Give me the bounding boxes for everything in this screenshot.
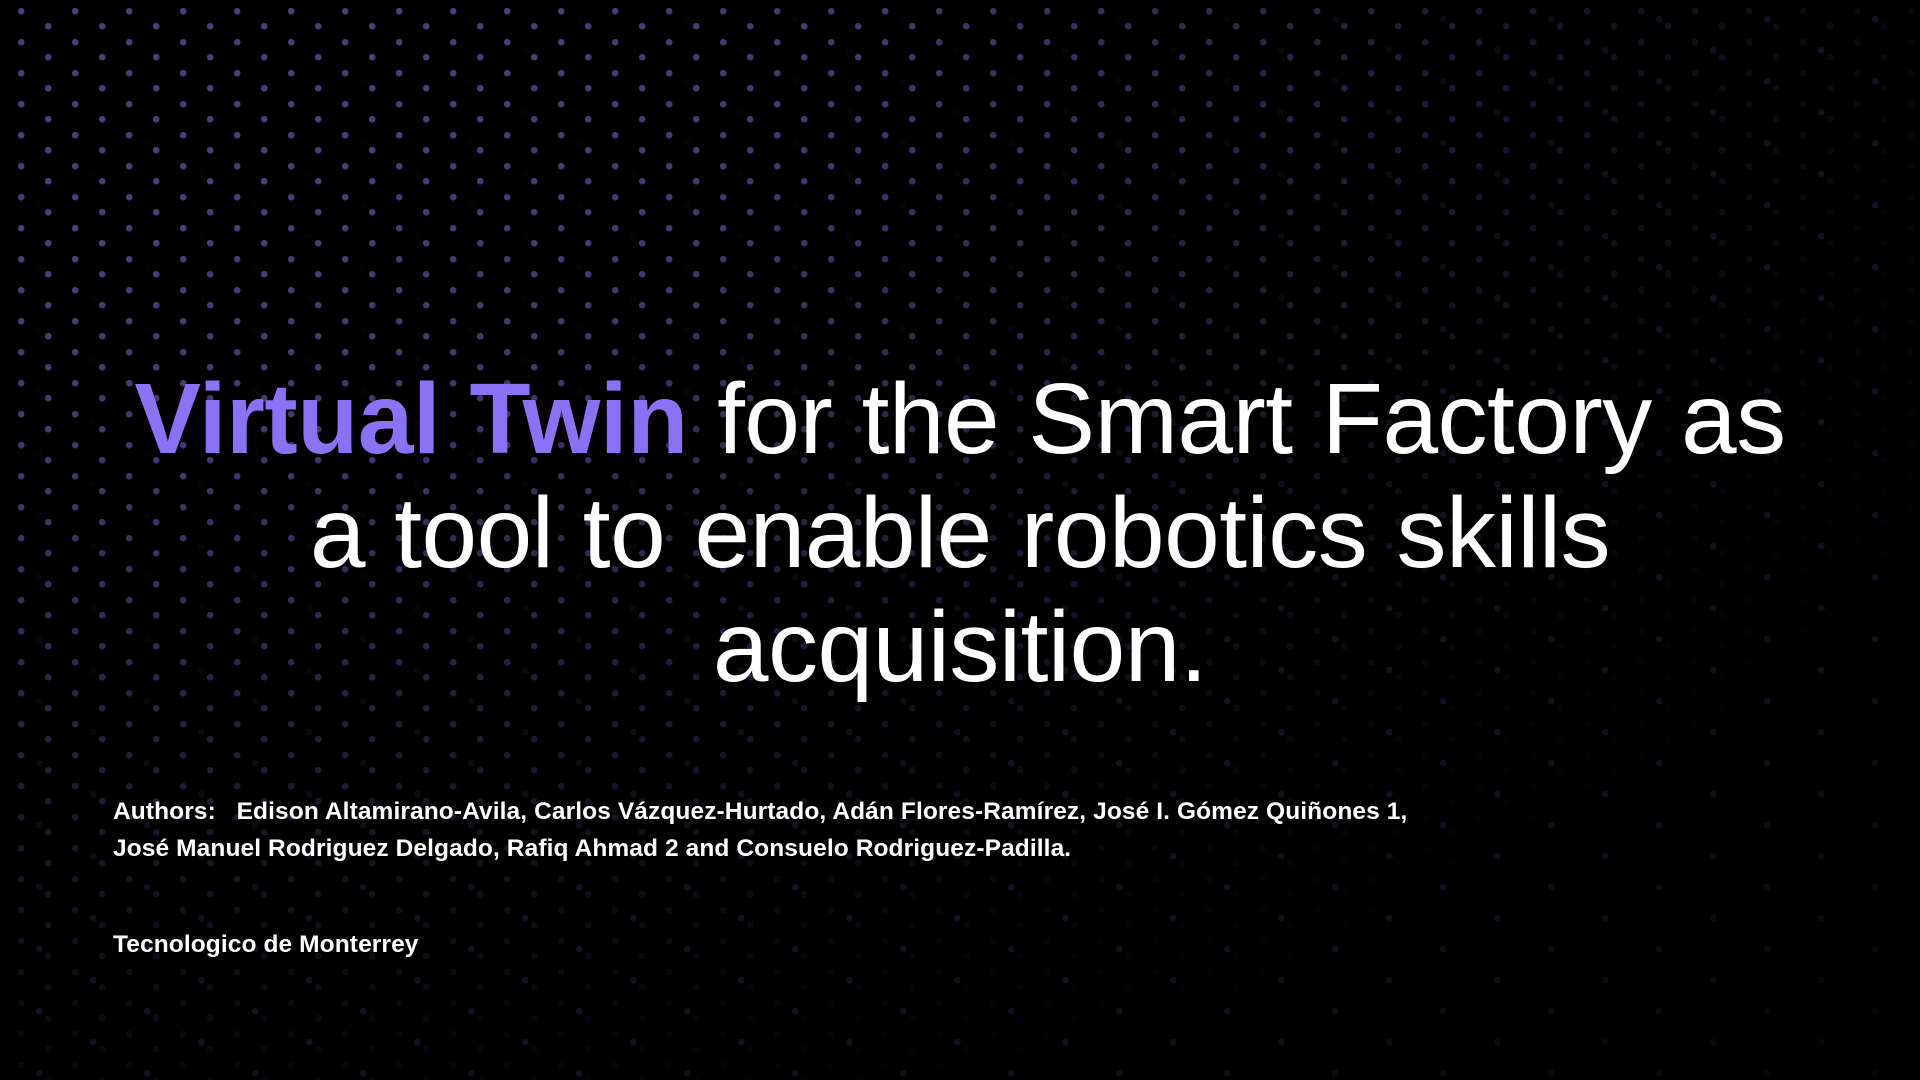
title-accent-text: Virtual Twin — [134, 363, 687, 475]
page-title: Virtual Twin for the Smart Factory asa t… — [108, 362, 1812, 704]
title-line1-rest: for the Smart Factory as — [688, 363, 1786, 475]
title-line3: acquisition. — [713, 591, 1207, 703]
affiliation-block: Tecnologico de Monterrey — [113, 928, 419, 962]
affiliation-name: Tecnologico de Monterrey — [113, 928, 419, 962]
title-slide: Virtual Twin for the Smart Factory asa t… — [0, 0, 1920, 1080]
title-line2: a tool to enable robotics skills — [310, 477, 1610, 589]
title-block: Virtual Twin for the Smart Factory asa t… — [108, 362, 1812, 704]
authors-label: Authors: — [113, 798, 216, 825]
authors-label-spacer — [216, 798, 237, 825]
authors-names-first-line: Edison Altamirano-Avila, Carlos Vázquez-… — [237, 798, 1408, 825]
slide-content: Virtual Twin for the Smart Factory asa t… — [0, 0, 1920, 1080]
authors-block: Authors: Edison Altamirano-Avila, Carlos… — [113, 793, 1833, 867]
authors-line-2: José Manuel Rodriguez Delgado, Rafiq Ahm… — [113, 830, 1833, 867]
authors-line-1: Authors: Edison Altamirano-Avila, Carlos… — [113, 793, 1833, 830]
